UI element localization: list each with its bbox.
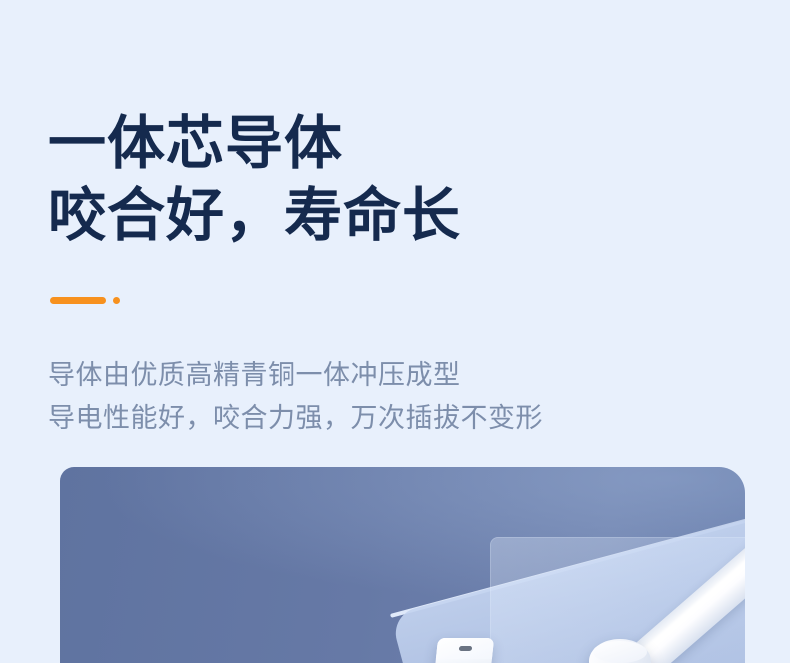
headline-line-2: 咬合好，寿命长	[48, 180, 461, 252]
description-text: 导体由优质高精青铜一体冲压成型 导电性能好，咬合力强，万次插拔不变形	[48, 354, 543, 440]
description-line-2: 导电性能好，咬合力强，万次插拔不变形	[48, 397, 543, 440]
page-title: 一体芯导体 咬合好，寿命长	[48, 108, 461, 252]
product-detail-page: 一体芯导体 咬合好，寿命长 导体由优质高精青铜一体冲压成型 导电性能好，咬合力强…	[0, 0, 790, 663]
divider-dot-icon	[113, 297, 120, 304]
white-cube-adaptor	[434, 638, 494, 663]
divider	[50, 297, 120, 304]
hero-product-image	[60, 467, 745, 663]
headline-line-1: 一体芯导体	[48, 108, 461, 180]
cube-port-icon	[459, 646, 473, 651]
plug-head-face	[593, 641, 647, 663]
description-line-1: 导体由优质高精青铜一体冲压成型	[48, 354, 543, 397]
divider-bar-icon	[50, 297, 106, 304]
